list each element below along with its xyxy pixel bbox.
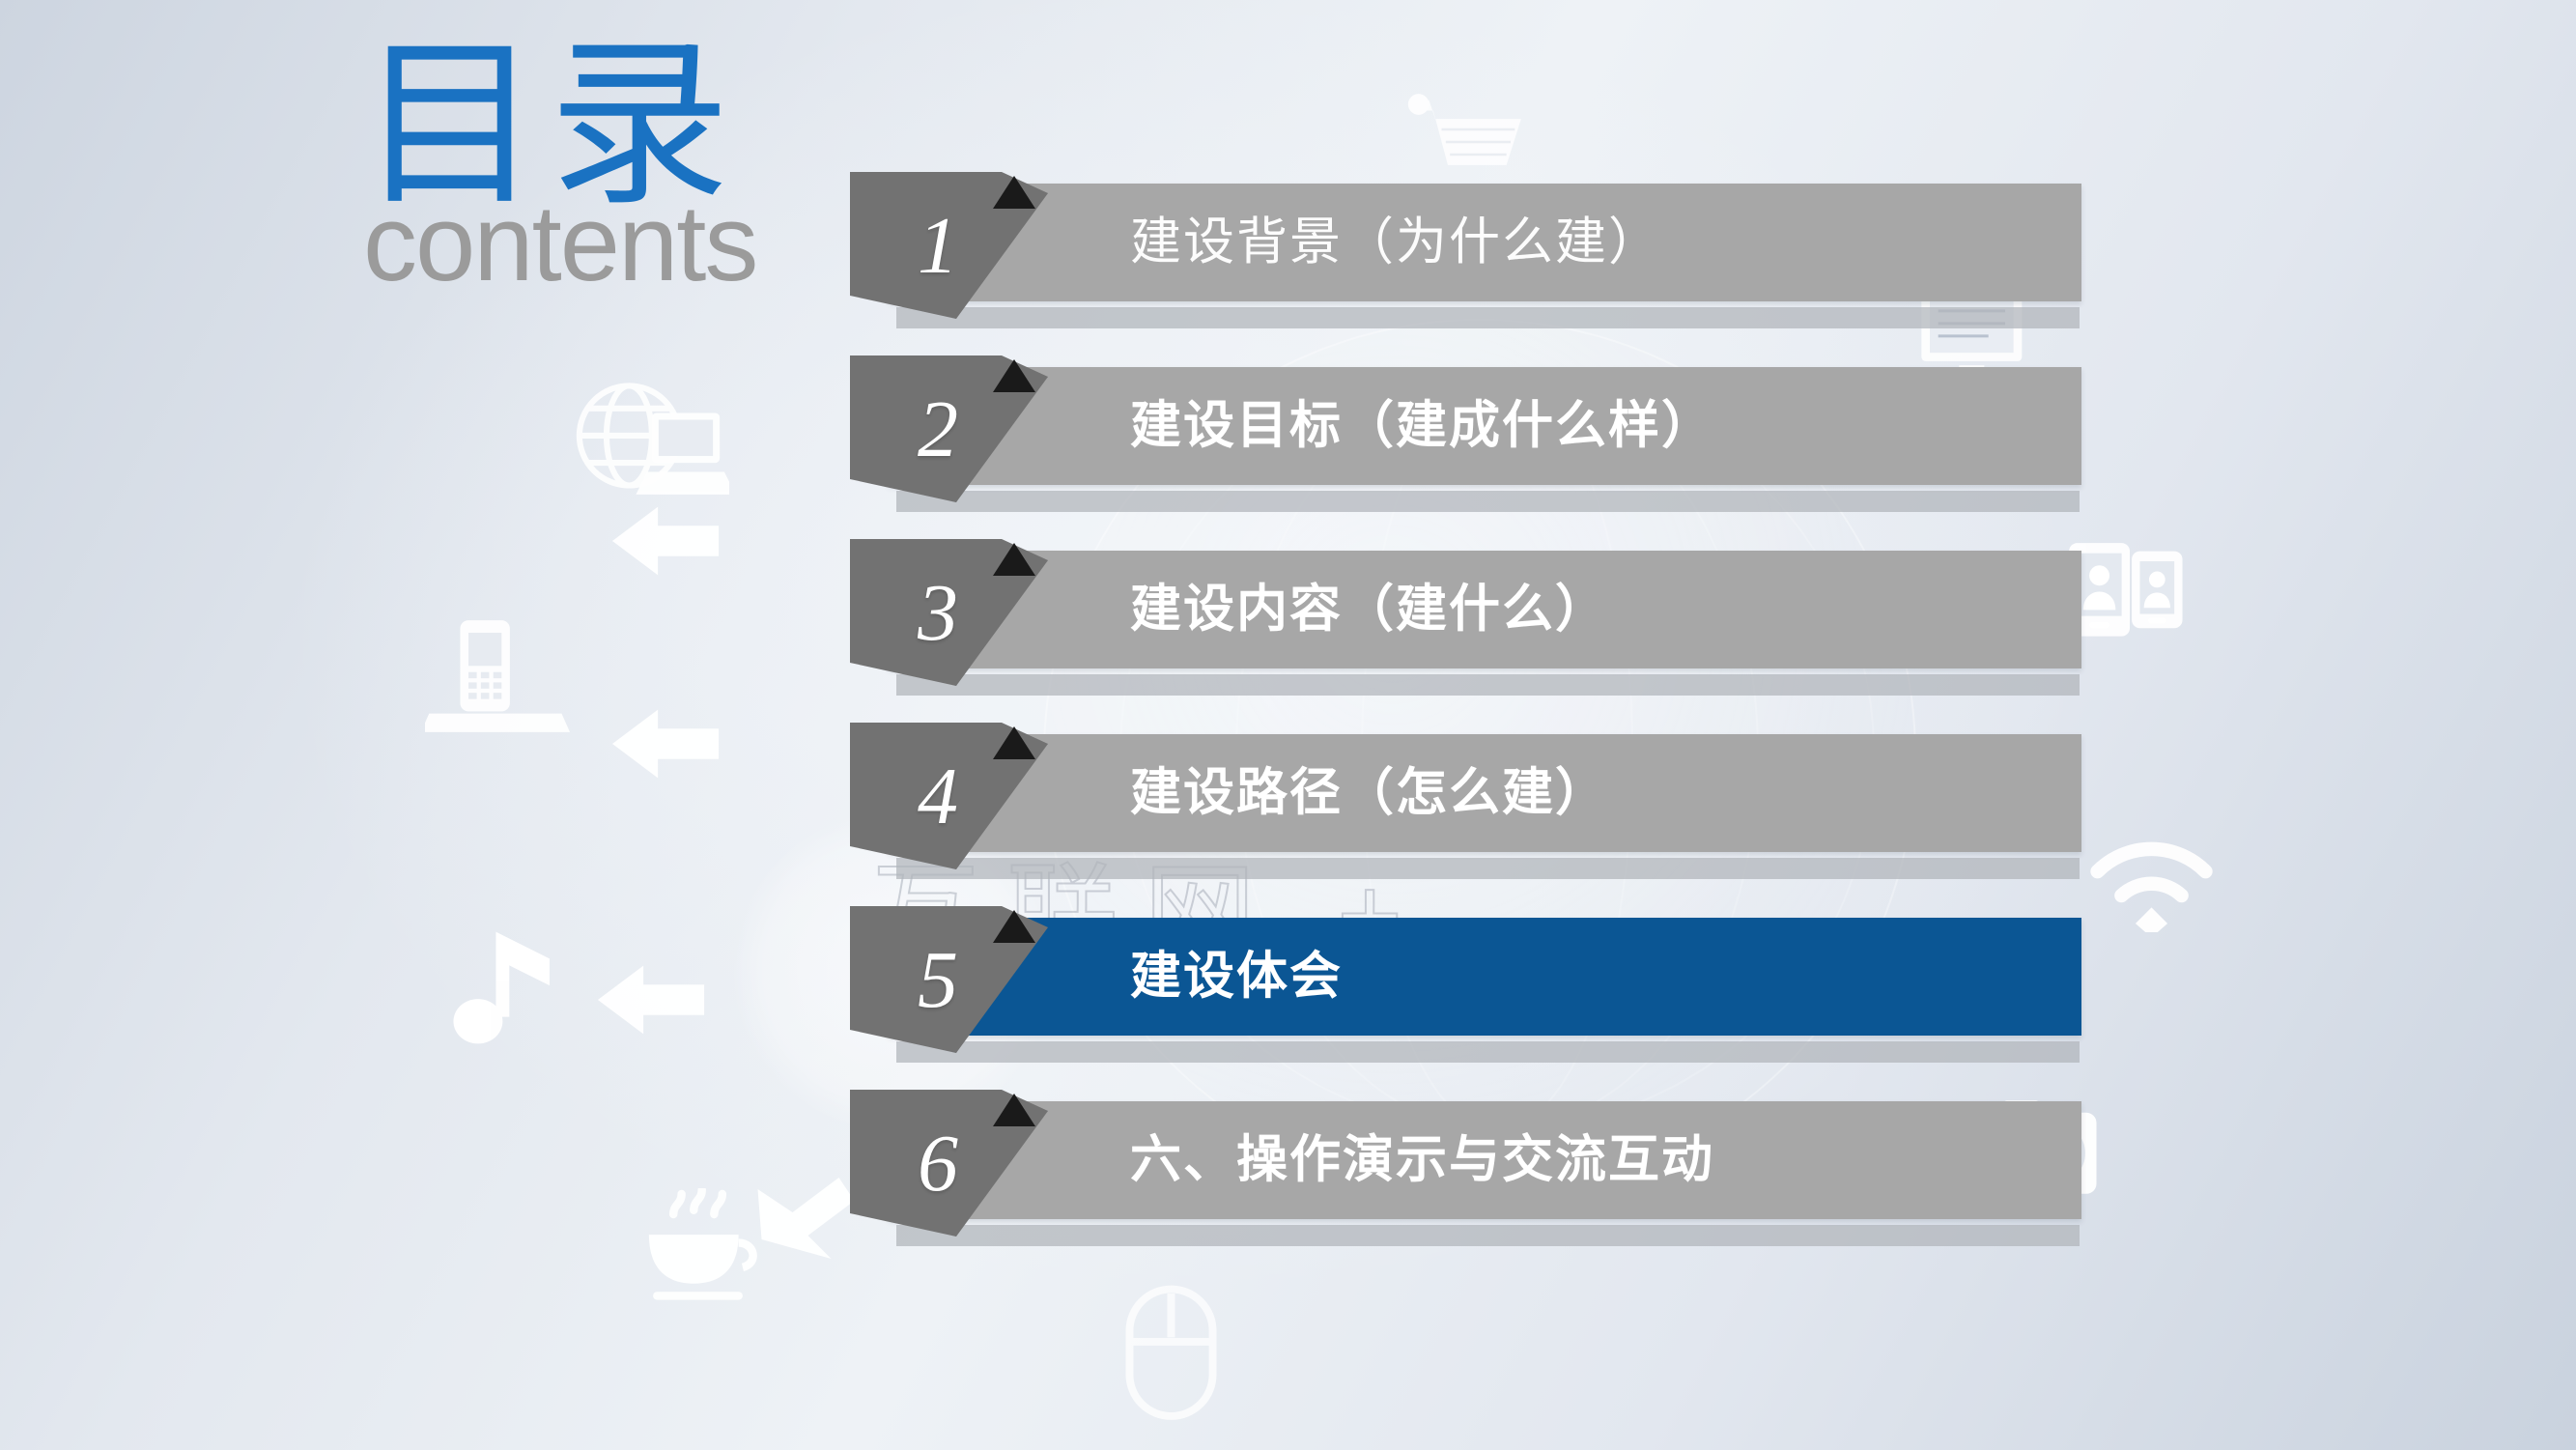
arrow-left-icon-2 (609, 705, 722, 782)
triangle-marker-icon-1 (993, 176, 1035, 209)
globe-laptop-icon (570, 377, 729, 522)
contents-bar-reflection-2 (896, 491, 2080, 512)
contents-bar-1[interactable]: 建设背景（为什么建） (889, 184, 2081, 301)
coffee-cup-icon (633, 1188, 763, 1314)
arrow-left-icon (609, 502, 722, 580)
music-note-icon (449, 927, 565, 1048)
contents-label-2: 建设目标（建成什么样） (1130, 367, 1714, 485)
contents-bar-4[interactable]: 建设路径（怎么建） (889, 734, 2081, 852)
arrow-left-icon-3 (594, 961, 708, 1038)
wifi-icon (2081, 831, 2222, 932)
list-item[interactable]: 建设路径（怎么建） 4 (850, 723, 2057, 906)
arrow-diagonal-icon (749, 1174, 860, 1270)
contents-bar-6[interactable]: 六、操作演示与交流互动 (889, 1101, 2081, 1219)
contents-bar-reflection-4 (896, 858, 2080, 879)
contents-bar-2[interactable]: 建设目标（建成什么样） (889, 367, 2081, 485)
contents-bar-3[interactable]: 建设内容（建什么） (889, 551, 2081, 668)
contents-label-5: 建设体会 (1130, 918, 1343, 1036)
contents-bar-5[interactable]: 建设体会 (889, 918, 2081, 1036)
triangle-marker-icon-5 (993, 910, 1035, 943)
slide-title-block: 目录 contents (359, 39, 775, 298)
contents-bar-reflection-3 (896, 674, 2080, 696)
slide-canvas: 互联网 + (0, 0, 2576, 1450)
contents-label-4: 建设路径（怎么建） (1130, 734, 1608, 852)
contents-list: 建设背景（为什么建） 1 建设目标（建成什么样） 2 建设内容（建什么） (850, 172, 2057, 1273)
list-item[interactable]: 建设背景（为什么建） 1 (850, 172, 2057, 355)
contents-label-3: 建设内容（建什么） (1130, 551, 1608, 668)
list-item[interactable]: 建设内容（建什么） 3 (850, 539, 2057, 723)
list-item[interactable]: 建设目标（建成什么样） 2 (850, 355, 2057, 539)
contents-label-1: 建设背景（为什么建） (1130, 184, 1661, 301)
list-item[interactable]: 六、操作演示与交流互动 6 (850, 1090, 2057, 1273)
contents-bar-reflection-5 (896, 1041, 2080, 1063)
triangle-marker-icon-3 (993, 543, 1035, 576)
triangle-marker-icon-4 (993, 726, 1035, 759)
contents-bar-reflection-1 (896, 307, 2080, 328)
page-title-en: contents (363, 189, 775, 298)
list-item-active[interactable]: 建设体会 5 (850, 906, 2057, 1090)
computer-mouse-icon (1116, 1285, 1227, 1425)
smartphone-contacts-icon (2067, 541, 2193, 642)
triangle-marker-icon-2 (993, 359, 1035, 392)
triangle-marker-icon-6 (993, 1094, 1035, 1126)
contents-bar-reflection-6 (896, 1225, 2080, 1246)
contents-label-6: 六、操作演示与交流互动 (1130, 1101, 1714, 1219)
mobile-phone-dock-icon (425, 618, 570, 734)
